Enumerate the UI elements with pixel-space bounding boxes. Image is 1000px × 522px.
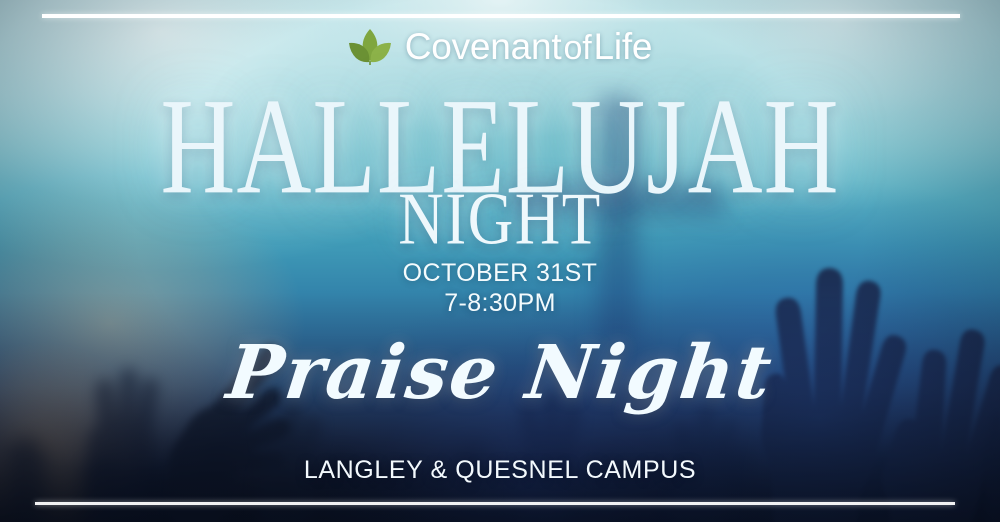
brand-name-part2: Life: [593, 26, 652, 67]
event-date: OCTOBER 31ST: [0, 258, 1000, 288]
event-time: 7-8:30PM: [0, 288, 1000, 318]
brand-name-connector: of: [561, 29, 593, 67]
event-poster: CovenantofLife HALLELUJAH NIGHT OCTOBER …: [0, 0, 1000, 522]
event-campus: LANGLEY & QUESNEL CAMPUS: [0, 455, 1000, 485]
three-leaf-icon: [348, 27, 392, 65]
script-praise-night: Praise Night: [0, 334, 1000, 414]
brand-name-part1: Covenant: [405, 26, 562, 67]
brand-name: CovenantofLife: [405, 28, 653, 65]
brand-lockup: CovenantofLife: [0, 27, 1000, 65]
poster-content: CovenantofLife HALLELUJAH NIGHT OCTOBER …: [0, 0, 1000, 522]
event-datetime: OCTOBER 31ST 7-8:30PM: [0, 258, 1000, 318]
headline-night: NIGHT: [0, 182, 1000, 256]
